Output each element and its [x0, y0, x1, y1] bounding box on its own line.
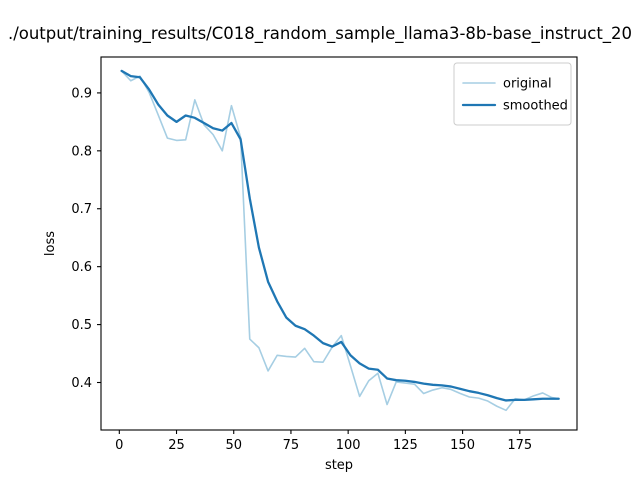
x-tick-label: 125 [393, 438, 418, 453]
x-tick-label: 25 [168, 438, 185, 453]
y-tick-label: 0.4 [71, 376, 92, 391]
matplotlib-figure: ./output/training_results/C018_random_sa… [0, 0, 640, 480]
legend-label-original: original [503, 77, 552, 92]
y-tick-label: 0.8 [71, 144, 92, 159]
y-axis-ticks: 0.40.50.60.70.80.9 [71, 86, 101, 391]
loss-curve-plot: 0255075100125150175 0.40.50.60.70.80.9 s… [0, 0, 640, 480]
x-axis-label: step [325, 458, 353, 473]
legend-label-smoothed: smoothed [503, 99, 568, 114]
chart-legend[interactable]: originalsmoothed [454, 63, 571, 125]
x-tick-label: 175 [507, 438, 532, 453]
x-tick-label: 0 [115, 438, 123, 453]
legend-box [454, 63, 571, 125]
x-tick-label: 100 [336, 438, 361, 453]
x-axis-ticks: 0255075100125150175 [115, 430, 532, 453]
x-tick-label: 75 [283, 438, 300, 453]
y-tick-label: 0.7 [71, 202, 92, 217]
y-tick-label: 0.6 [71, 260, 92, 275]
y-axis-label: loss [43, 231, 58, 256]
x-tick-label: 50 [225, 438, 242, 453]
y-tick-label: 0.9 [71, 86, 92, 101]
x-tick-label: 150 [450, 438, 475, 453]
y-tick-label: 0.5 [71, 318, 92, 333]
